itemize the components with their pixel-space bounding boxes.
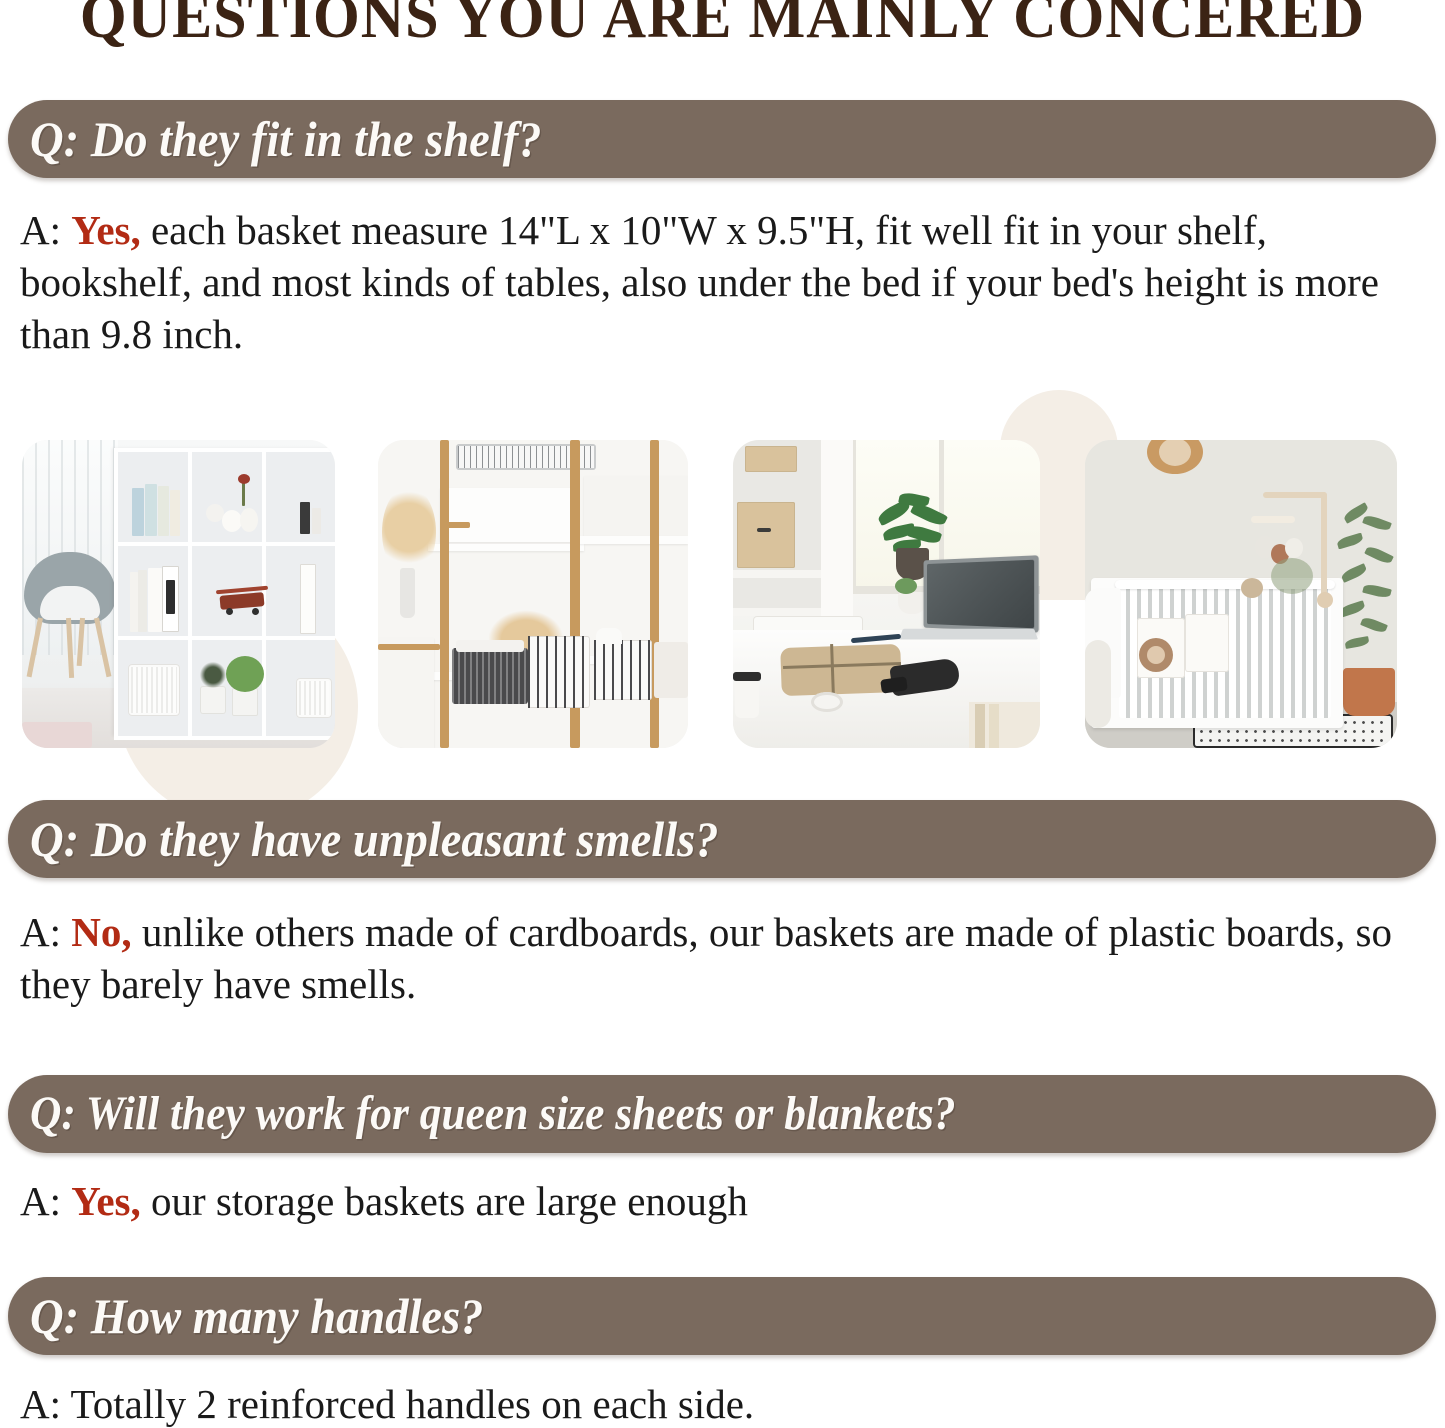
answer-rest-2: unlike others made of cardboards, our ba… bbox=[20, 909, 1392, 1007]
answer-prefix-4: A: bbox=[20, 1381, 71, 1427]
answer-highlight-3: Yes, bbox=[71, 1178, 140, 1224]
question-text-1: Q: Do they fit in the shelf? bbox=[30, 114, 541, 164]
photo-nursery bbox=[1085, 440, 1397, 748]
answer-rest-3: our storage baskets are large enough bbox=[141, 1178, 748, 1224]
question-text-2: Q: Do they have unpleasant smells? bbox=[30, 814, 718, 864]
question-bar-1: Q: Do they fit in the shelf? bbox=[8, 100, 1436, 178]
photo-bamboo-shelf bbox=[378, 440, 688, 748]
answer-text-4: A: Totally 2 reinforced handles on each … bbox=[20, 1378, 1440, 1428]
question-bar-3: Q: Will they work for queen size sheets … bbox=[8, 1075, 1436, 1153]
question-text-4: Q: How many handles? bbox=[30, 1291, 483, 1341]
photo-office-desk bbox=[733, 440, 1040, 748]
question-bar-2: Q: Do they have unpleasant smells? bbox=[8, 800, 1436, 878]
answer-text-3: A: Yes, our storage baskets are large en… bbox=[20, 1175, 1440, 1227]
faq-infographic: QUESTIONS YOU ARE MAINLY CONCERED Q: Do … bbox=[0, 0, 1445, 1428]
answer-prefix-3: A: bbox=[20, 1178, 71, 1224]
answer-rest-4: Totally 2 reinforced handles on each sid… bbox=[71, 1381, 755, 1427]
photo-bookshelf bbox=[22, 440, 335, 748]
answer-text-1: A: Yes, each basket measure 14"L x 10"W … bbox=[20, 204, 1440, 360]
answer-prefix-2: A: bbox=[20, 909, 71, 955]
answer-highlight-2: No, bbox=[71, 909, 131, 955]
question-bar-4: Q: How many handles? bbox=[8, 1277, 1436, 1355]
answer-highlight-1: Yes, bbox=[71, 207, 140, 253]
question-text-3: Q: Will they work for queen size sheets … bbox=[30, 1090, 956, 1138]
answer-rest-1: each basket measure 14"L x 10"W x 9.5"H,… bbox=[20, 207, 1379, 357]
page-title: QUESTIONS YOU ARE MAINLY CONCERED bbox=[22, 0, 1424, 48]
answer-text-2: A: No, unlike others made of cardboards,… bbox=[20, 906, 1440, 1010]
answer-prefix-1: A: bbox=[20, 207, 71, 253]
